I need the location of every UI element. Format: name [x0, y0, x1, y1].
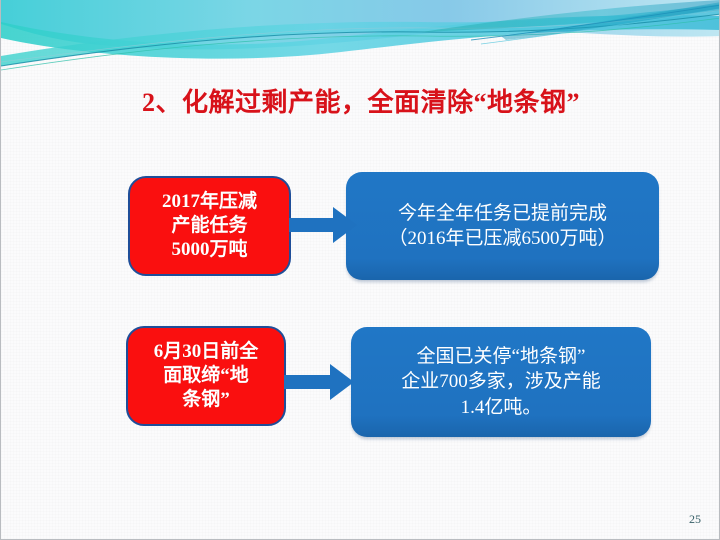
task-box-row-1-line-1: 2017年压减 [162, 190, 257, 214]
task-box-row-2-line-3: 条钢” [154, 388, 259, 412]
result-box-row-2-line-2: 企业700多家，涉及产能 [401, 369, 601, 394]
task-box-row-1-line-3: 5000万吨 [162, 238, 257, 262]
result-box-row-1-line-2: （2016年已压减6500万吨） [388, 226, 616, 251]
header-wave-decoration [1, 0, 720, 90]
task-box-row-2-line-2: 面取缔“地 [154, 364, 259, 388]
task-box-row-1: 2017年压减 产能任务 5000万吨 [128, 176, 291, 276]
page-number: 25 [689, 512, 701, 527]
result-box-row-1-line-1: 今年全年任务已提前完成 [388, 201, 616, 226]
arrow-row-2 [284, 360, 356, 404]
result-box-row-1: 今年全年任务已提前完成 （2016年已压减6500万吨） [346, 172, 659, 280]
result-box-row-2: 全国已关停“地条钢” 企业700多家，涉及产能 1.4亿吨。 [351, 327, 651, 437]
result-box-row-2-line-3: 1.4亿吨。 [401, 395, 601, 420]
arrow-row-1 [289, 203, 359, 247]
task-box-row-2-line-1: 6月30日前全 [154, 340, 259, 364]
page-title: 2、化解过剩产能，全面清除“地条钢” [1, 82, 720, 119]
result-box-row-2-line-1: 全国已关停“地条钢” [401, 344, 601, 369]
task-box-row-2: 6月30日前全 面取缔“地 条钢” [126, 326, 286, 426]
slide-canvas: 2、化解过剩产能，全面清除“地条钢” 2017年压减 产能任务 5000万吨 今… [0, 0, 720, 540]
task-box-row-1-line-2: 产能任务 [162, 214, 257, 238]
